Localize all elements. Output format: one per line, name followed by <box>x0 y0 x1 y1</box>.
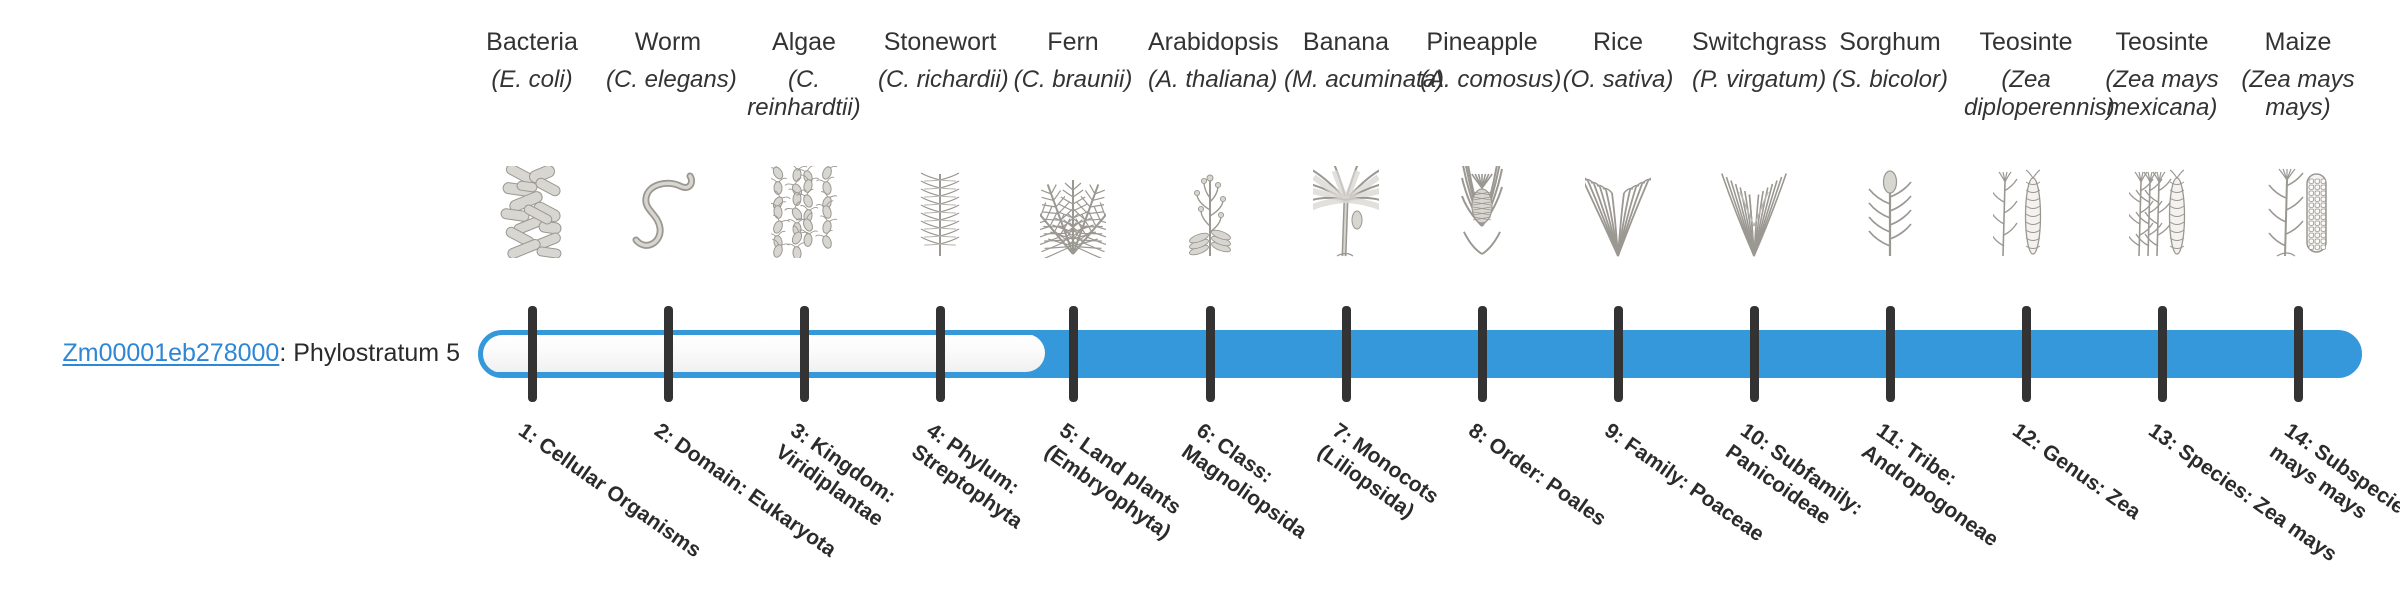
species-scientific-name: (C. elegans) <box>606 66 730 94</box>
species-scientific-name: (E. coli) <box>470 66 594 94</box>
banana-plant-icon <box>1284 168 1408 258</box>
species-scientific-name: (C. braunii) <box>1011 66 1135 94</box>
phylostratum-tick[interactable] <box>1206 306 1215 402</box>
nematode-worm-icon <box>606 168 730 258</box>
species-scientific-name: (P. virgatum) <box>1692 66 1816 94</box>
gene-id-link[interactable]: Zm00001eb278000 <box>62 339 279 367</box>
species-column: Switchgrass (P. virgatum) <box>1692 26 1816 94</box>
species-column: Worm (C. elegans) <box>606 26 730 94</box>
species-column: Bacteria (E. coli) <box>470 26 594 94</box>
species-scientific-name: (M. acuminata) <box>1284 66 1408 94</box>
species-scientific-name: (O. sativa) <box>1556 66 1680 94</box>
species-common-name: Switchgrass <box>1692 26 1816 58</box>
arabidopsis-icon <box>1148 168 1272 258</box>
species-common-name: Pineapple <box>1420 26 1544 58</box>
phylostratum-tick[interactable] <box>1886 306 1895 402</box>
species-common-name: Bacteria <box>470 26 594 58</box>
phylostratum-tick[interactable] <box>1478 306 1487 402</box>
phylostratum-tick[interactable] <box>936 306 945 402</box>
species-column: Stonewort (C. richardii) <box>878 26 1002 94</box>
phylostratum-bar-unfilled <box>478 334 1045 372</box>
maize-plant-ear-icon <box>2236 168 2360 258</box>
algae-cells-icon <box>742 168 866 258</box>
sorghum-plant-icon <box>1828 168 1952 258</box>
species-column: Sorghum (S. bicolor) <box>1828 26 1952 94</box>
phylostratum-timeline: Zm00001eb278000: Phylostratum 5 Bacteria… <box>0 0 2400 580</box>
phylostratum-tick[interactable] <box>528 306 537 402</box>
rice-plant-icon <box>1556 168 1680 258</box>
species-common-name: Algae <box>742 26 866 58</box>
species-column: Fern (C. braunii) <box>1011 26 1135 94</box>
species-scientific-name: (Zea mays mexicana) <box>2100 66 2224 122</box>
phylostratum-tick[interactable] <box>1750 306 1759 402</box>
species-column: Algae (C. reinhardtii) <box>742 26 866 122</box>
stonewort-icon <box>878 168 1002 258</box>
species-column: Maize (Zea mays mays) <box>2236 26 2360 122</box>
phylostratum-value-text: Phylostratum 5 <box>293 339 460 367</box>
phylostratum-tick[interactable] <box>2294 306 2303 402</box>
species-column: Teosinte (Zea mays mexicana) <box>2100 26 2224 122</box>
species-common-name: Worm <box>606 26 730 58</box>
phylostratum-tick[interactable] <box>800 306 809 402</box>
species-common-name: Maize <box>2236 26 2360 58</box>
phylostratum-tick[interactable] <box>1342 306 1351 402</box>
teosinte-diplo-icon <box>1964 168 2088 258</box>
phylostratum-tick[interactable] <box>2022 306 2031 402</box>
species-scientific-name: (Zea diploperennis) <box>1964 66 2088 122</box>
species-column: Pineapple (A. comosus) <box>1420 26 1544 94</box>
species-column: Rice (O. sativa) <box>1556 26 1680 94</box>
species-common-name: Banana <box>1284 26 1408 58</box>
species-column: Teosinte (Zea diploperennis) <box>1964 26 2088 122</box>
species-common-name: Sorghum <box>1828 26 1952 58</box>
gene-label-separator: : <box>279 339 293 367</box>
species-scientific-name: (C. reinhardtii) <box>742 66 866 122</box>
switchgrass-icon <box>1692 168 1816 258</box>
species-scientific-name: (Zea mays mays) <box>2236 66 2360 122</box>
phylostratum-tick[interactable] <box>1069 306 1078 402</box>
phylostratum-tick[interactable] <box>2158 306 2167 402</box>
teosinte-mexicana-icon <box>2100 168 2224 258</box>
species-column: Arabidopsis (A. thaliana) <box>1148 26 1272 94</box>
species-scientific-name: (C. richardii) <box>878 66 1002 94</box>
species-common-name: Arabidopsis <box>1148 26 1272 58</box>
species-common-name: Teosinte <box>1964 26 2088 58</box>
bacteria-rods-icon <box>470 168 594 258</box>
gene-phylostratum-label: Zm00001eb278000: Phylostratum 5 <box>40 338 460 368</box>
phylostratum-tick[interactable] <box>664 306 673 402</box>
fern-frond-icon <box>1011 168 1135 258</box>
species-column: Banana (M. acuminata) <box>1284 26 1408 94</box>
phylostratum-tick[interactable] <box>1614 306 1623 402</box>
species-scientific-name: (A. comosus) <box>1420 66 1544 94</box>
species-common-name: Teosinte <box>2100 26 2224 58</box>
pineapple-plant-icon <box>1420 168 1544 258</box>
species-common-name: Rice <box>1556 26 1680 58</box>
species-scientific-name: (S. bicolor) <box>1828 66 1952 94</box>
species-scientific-name: (A. thaliana) <box>1148 66 1272 94</box>
phylostratum-bar[interactable] <box>478 330 2362 378</box>
species-common-name: Stonewort <box>878 26 1002 58</box>
species-common-name: Fern <box>1011 26 1135 58</box>
